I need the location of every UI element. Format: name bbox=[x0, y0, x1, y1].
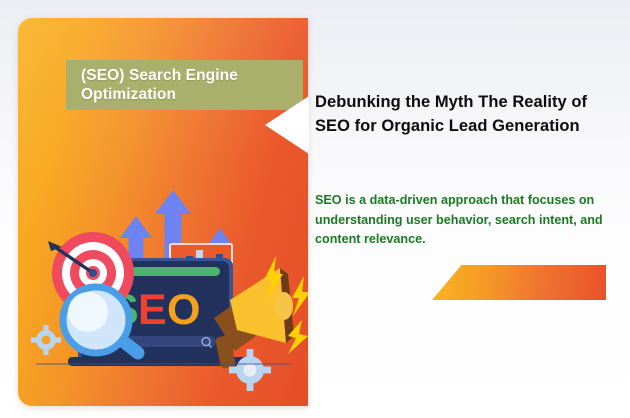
title-badge: (SEO) Search Engine Optimization bbox=[66, 60, 303, 110]
page-title: Debunking the Myth The Reality of SEO fo… bbox=[315, 91, 610, 138]
orange-gradient-panel: S E O bbox=[18, 18, 308, 406]
svg-text:E: E bbox=[138, 286, 167, 334]
body-paragraph: SEO is a data-driven approach that focus… bbox=[315, 191, 610, 250]
accent-banner-shape bbox=[432, 265, 606, 300]
title-badge-label: (SEO) Search Engine Optimization bbox=[66, 66, 303, 104]
svg-text:O: O bbox=[167, 286, 200, 334]
slide-canvas: S E O bbox=[0, 0, 630, 418]
